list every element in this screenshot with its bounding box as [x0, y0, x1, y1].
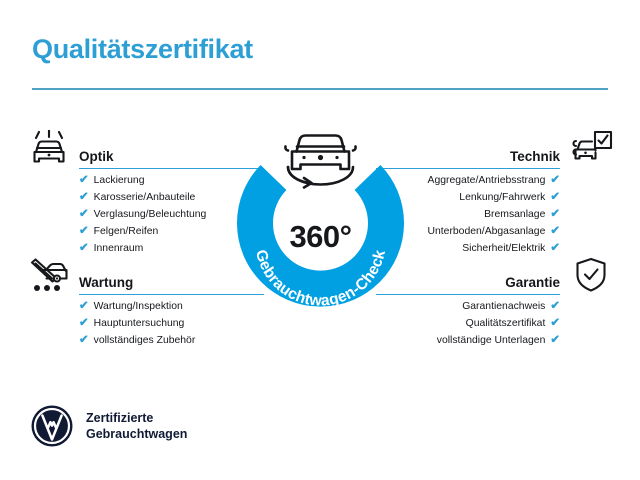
list-item-label: Verglasung/Beleuchtung	[94, 206, 207, 223]
section-title-garantie: Garantie	[505, 275, 560, 290]
check-icon: ✔	[550, 209, 560, 221]
car-front-shine-icon	[26, 130, 72, 170]
check-icon: ✔	[79, 209, 89, 221]
section-wartung: Wartung ✔Wartung/Inspektion ✔Hauptunters…	[24, 256, 264, 349]
badge-360-gebrauchtwagen-check: Gebrauchtwagen-Check 360°	[233, 115, 408, 315]
check-icon: ✔	[550, 175, 560, 187]
list-item: ✔Hauptuntersuchung	[79, 315, 264, 332]
section-title-optik: Optik	[79, 149, 114, 164]
list-item-label: Garantienachweis	[462, 298, 545, 315]
section-title-technik: Technik	[510, 149, 560, 164]
car-on-lift-wrench-icon	[26, 256, 72, 296]
check-icon: ✔	[550, 226, 560, 238]
list-item-label: Unterboden/Abgasanlage	[428, 223, 546, 240]
check-list-optik: ✔Lackierung ✔Karosserie/Anbauteile ✔Verg…	[24, 172, 264, 257]
quality-certificate-page: Qualitätszertifikat Optik ✔Lackierung ✔K…	[0, 0, 640, 480]
section-header-wartung: Wartung	[24, 256, 264, 298]
list-item-label: Aggregate/Antriebsstrang	[428, 172, 546, 189]
shield-check-icon	[568, 256, 614, 296]
check-icon: ✔	[79, 192, 89, 204]
check-icon: ✔	[79, 175, 89, 187]
section-technik: Technik Aggregate/Antriebsstrang✔ Lenkun…	[376, 130, 616, 257]
check-icon: ✔	[79, 318, 89, 330]
list-item-label: Felgen/Reifen	[94, 223, 159, 240]
list-item-label: Bremsanlage	[484, 206, 545, 223]
list-item: Qualitätszertifikat✔	[376, 315, 560, 332]
footer-line-2: Gebrauchtwagen	[86, 427, 187, 441]
list-item-label: Innenraum	[94, 240, 144, 257]
check-icon: ✔	[79, 301, 89, 313]
list-item-label: Karosserie/Anbauteile	[94, 189, 196, 206]
page-title: Qualitätszertifikat	[32, 34, 253, 65]
list-item-label: Sicherheit/Elektrik	[462, 240, 545, 257]
badge-degrees-label: 360°	[233, 219, 408, 255]
section-optik: Optik ✔Lackierung ✔Karosserie/Anbauteile…	[24, 130, 264, 257]
check-icon: ✔	[79, 226, 89, 238]
check-list-technik: Aggregate/Antriebsstrang✔ Lenkung/Fahrwe…	[376, 172, 616, 257]
footer-brand: Zertifizierte Gebrauchtwagen	[30, 404, 187, 448]
check-icon: ✔	[550, 243, 560, 255]
footer-line-1: Zertifizierte	[86, 411, 153, 425]
footer-text: Zertifizierte Gebrauchtwagen	[86, 410, 187, 442]
section-header-garantie: Garantie	[376, 256, 616, 298]
check-icon: ✔	[550, 301, 560, 313]
check-list-wartung: ✔Wartung/Inspektion ✔Hauptuntersuchung ✔…	[24, 298, 264, 349]
check-icon: ✔	[79, 335, 89, 347]
car-checkbox-icon	[568, 130, 614, 170]
section-garantie: Garantie Garantienachweis✔ Qualitätszert…	[376, 256, 616, 349]
list-item-label: Qualitätszertifikat	[466, 315, 546, 332]
title-divider	[32, 88, 608, 90]
list-item-label: Lenkung/Fahrwerk	[459, 189, 545, 206]
check-icon: ✔	[550, 335, 560, 347]
check-list-garantie: Garantienachweis✔ Qualitätszertifikat✔ v…	[376, 298, 616, 349]
section-title-wartung: Wartung	[79, 275, 133, 290]
section-header-optik: Optik	[24, 130, 264, 172]
list-item-label: Wartung/Inspektion	[94, 298, 183, 315]
list-item-label: vollständige Unterlagen	[437, 332, 546, 349]
list-item: vollständige Unterlagen✔	[376, 332, 560, 349]
list-item-label: Hauptuntersuchung	[94, 315, 185, 332]
list-item: ✔vollständiges Zubehör	[79, 332, 264, 349]
list-item-label: vollständiges Zubehör	[94, 332, 196, 349]
check-icon: ✔	[79, 243, 89, 255]
section-header-technik: Technik	[376, 130, 616, 172]
vw-logo-icon	[30, 404, 74, 448]
car-rotate-360-icon	[285, 136, 355, 188]
check-icon: ✔	[550, 318, 560, 330]
list-item-label: Lackierung	[94, 172, 145, 189]
check-icon: ✔	[550, 192, 560, 204]
